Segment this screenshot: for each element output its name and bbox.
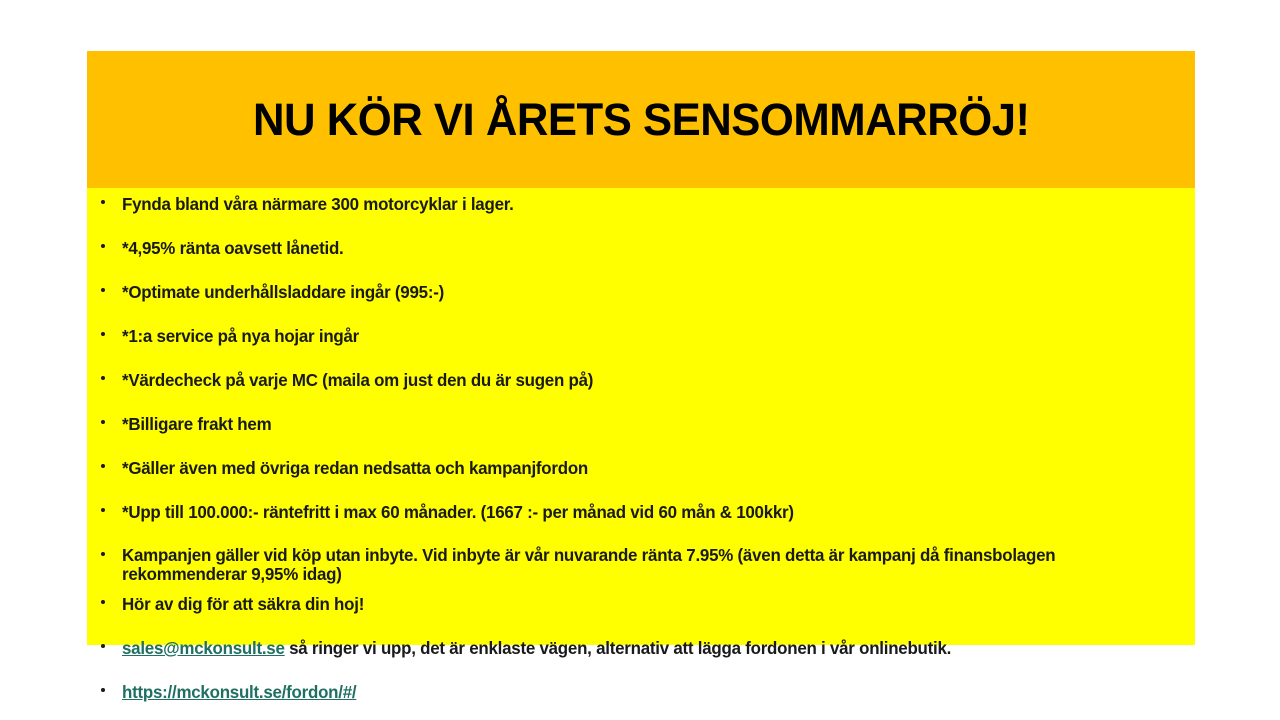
page-title: NU KÖR VI ÅRETS SENSOMMARRÖJ! [253, 96, 1030, 143]
list-item-text: *Optimate underhållsladdare ingår (995:-… [122, 282, 444, 302]
bullet-dot-icon [101, 420, 105, 424]
list-item-text: *4,95% ränta oavsett lånetid. [122, 238, 344, 258]
list-item-text: *Billigare frakt hem [122, 414, 271, 434]
bullet-dot-icon [101, 244, 105, 248]
bullet-dot-icon [101, 600, 105, 604]
bullet-dot-icon [101, 332, 105, 336]
bullet-dot-icon [101, 688, 105, 692]
body-panel: Fynda bland våra närmare 300 motorcyklar… [87, 188, 1195, 645]
list-item: Hör av dig för att säkra din hoj! [87, 594, 1195, 626]
list-item-text: https://mckonsult.se/fordon/#/ [122, 682, 356, 702]
list-item-text: Fynda bland våra närmare 300 motorcyklar… [122, 194, 514, 214]
bullet-dot-icon [101, 376, 105, 380]
title-banner: NU KÖR VI ÅRETS SENSOMMARRÖJ! [87, 51, 1195, 188]
list-item: *Gäller även med övriga redan nedsatta o… [87, 458, 1195, 490]
bullet-dot-icon [101, 552, 105, 556]
email-link[interactable]: sales@mckonsult.se [122, 638, 285, 658]
list-item: *4,95% ränta oavsett lånetid. [87, 238, 1195, 270]
bullet-dot-icon [101, 464, 105, 468]
bullet-dot-icon [101, 644, 105, 648]
list-item: Fynda bland våra närmare 300 motorcyklar… [87, 194, 1195, 226]
email-bullet-rest: så ringer vi upp, det är enklaste vägen,… [285, 638, 951, 658]
list-item: *1:a service på nya hojar ingår [87, 326, 1195, 358]
bullet-dot-icon [101, 200, 105, 204]
list-item: *Billigare frakt hem [87, 414, 1195, 446]
bullet-dot-icon [101, 508, 105, 512]
list-item-text: sales@mckonsult.se så ringer vi upp, det… [122, 638, 951, 658]
website-link[interactable]: https://mckonsult.se/fordon/#/ [122, 682, 356, 702]
slide-canvas: NU KÖR VI ÅRETS SENSOMMARRÖJ! Fynda blan… [0, 0, 1280, 720]
bullet-list: Fynda bland våra närmare 300 motorcyklar… [87, 194, 1195, 714]
list-item-text: Hör av dig för att säkra din hoj! [122, 594, 364, 614]
list-item-email: sales@mckonsult.se så ringer vi upp, det… [87, 638, 1195, 670]
list-item-text: *Gäller även med övriga redan nedsatta o… [122, 458, 588, 478]
bullet-dot-icon [101, 288, 105, 292]
list-item-text: *Värdecheck på varje MC (maila om just d… [122, 370, 593, 390]
list-item: *Värdecheck på varje MC (maila om just d… [87, 370, 1195, 402]
list-item: *Optimate underhållsladdare ingår (995:-… [87, 282, 1195, 314]
list-item-url: https://mckonsult.se/fordon/#/ [87, 682, 1195, 714]
list-item-text: *1:a service på nya hojar ingår [122, 326, 359, 346]
list-item-text: Kampanjen gäller vid köp utan inbyte. Vi… [122, 546, 1165, 584]
list-item: *Upp till 100.000:- räntefritt i max 60 … [87, 502, 1195, 534]
list-item-text: *Upp till 100.000:- räntefritt i max 60 … [122, 502, 794, 522]
list-item: Kampanjen gäller vid köp utan inbyte. Vi… [87, 546, 1195, 584]
